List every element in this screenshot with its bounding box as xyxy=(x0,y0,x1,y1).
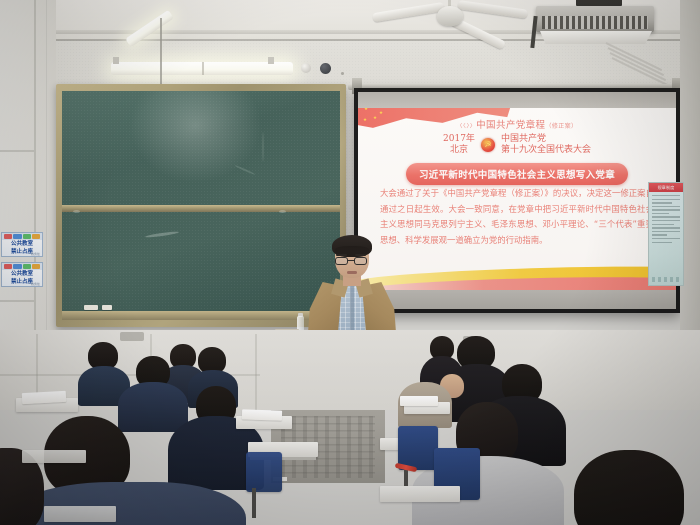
hook-wire xyxy=(160,18,162,88)
desk xyxy=(22,450,86,463)
hammer-sickle-icon: ☭ xyxy=(481,138,495,152)
shirt-placket xyxy=(350,282,354,334)
glasses-lens-right xyxy=(354,257,367,265)
notice-sign-no-seat-saving: 公共教室 禁止占座 教务处 xyxy=(1,232,43,257)
poster-body-lines xyxy=(649,192,683,243)
wall-seam xyxy=(46,0,47,352)
doc-title-suffix: （修正案） xyxy=(545,123,577,130)
notice-color-tabs xyxy=(2,263,42,270)
screen-top-strip xyxy=(358,92,676,108)
light-bracket xyxy=(113,57,119,64)
glasses-lens-left xyxy=(335,257,348,265)
slide-header-row: 2017年 北京 ☭ 中国共产党 第十九次全国代表大会 xyxy=(358,134,676,156)
desk-foreground xyxy=(380,486,460,502)
glasses-bridge xyxy=(348,260,354,261)
mouth xyxy=(347,271,357,274)
chalk-stick xyxy=(84,305,98,310)
desk-foreground xyxy=(44,506,116,522)
fan-blade xyxy=(372,2,445,22)
projection-screen-surface: ★ ★ ★ ★ ★ 〈〈〉〉中国共产党章程（修正案） 2017年 北京 ☭ xyxy=(358,92,676,309)
projector-body xyxy=(536,6,654,32)
blackboard-divider xyxy=(62,205,340,212)
wall-seam xyxy=(34,0,36,352)
slide-document-title: 〈〈〉〉中国共产党章程（修正案） xyxy=(358,117,676,131)
presentation-slide: ★ ★ ★ ★ ★ 〈〈〉〉中国共产党章程（修正案） 2017年 北京 ☭ xyxy=(358,108,676,298)
congress-line-2: 第十九次全国代表大会 xyxy=(501,145,591,156)
notice-footer: 教务处 xyxy=(31,282,40,286)
chair xyxy=(398,426,438,470)
fan-hub xyxy=(437,6,463,26)
notice-line-1: 公共教室 xyxy=(2,240,42,248)
blackboard-surface xyxy=(62,91,340,320)
doc-title-prefix: 〈〈〉〉 xyxy=(457,123,477,130)
poster-footer xyxy=(652,277,680,282)
chalk-stick xyxy=(102,305,112,310)
wall-poster-regulations: 规章制度 xyxy=(648,182,684,286)
chair xyxy=(246,452,282,492)
ceiling-fan-icon xyxy=(378,0,528,38)
light-bracket xyxy=(268,57,274,64)
poster-header-bar: 规章制度 xyxy=(649,183,683,192)
slide-city: 北京 xyxy=(443,145,475,156)
wall-sensor-icon xyxy=(320,63,331,74)
wall-screw xyxy=(341,72,344,75)
paper-sheet xyxy=(242,409,282,420)
audience-seating xyxy=(0,330,700,525)
slide-congress-name: 中国共产党 第十九次全国代表大会 xyxy=(501,134,591,156)
left-wall xyxy=(0,0,56,352)
wall-seam xyxy=(0,300,34,302)
slide-body-text: 大会通过了关于《中国共产党章程（修正案）》的决议，决定这一修正案自通过之日起生效… xyxy=(380,186,654,248)
chair-leg xyxy=(252,488,256,518)
wall-seam xyxy=(0,150,34,152)
slide-year: 2017年 xyxy=(443,134,475,145)
paper-sheet xyxy=(22,391,67,404)
notice-sign-no-seat-saving-2: 公共教室 禁止占座 教务处 xyxy=(1,262,43,287)
classroom-scene: 公共教室 禁止占座 教务处 公共教室 禁止占座 教务处 xyxy=(0,0,700,525)
paper-sheet xyxy=(400,396,438,406)
slide-banner-title: 习近平新时代中国特色社会主义思想写入党章 xyxy=(406,163,628,185)
blackboard xyxy=(56,84,346,327)
fan-blade xyxy=(457,0,528,19)
poster-header-text: 规章制度 xyxy=(649,183,683,192)
fluorescent-light-main xyxy=(111,62,293,75)
eyebrow-right xyxy=(355,254,366,256)
wall-speaker-icon xyxy=(301,63,311,73)
doc-title-main: 中国共产党章程 xyxy=(476,120,545,131)
notice-line-1: 公共教室 xyxy=(2,270,42,278)
projector-vents xyxy=(542,16,648,29)
projector-rails xyxy=(606,42,672,64)
eyebrow-left xyxy=(336,254,347,256)
projector-icon xyxy=(536,0,664,48)
congress-line-1: 中国共产党 xyxy=(501,134,591,145)
slide-year-city: 2017年 北京 xyxy=(443,134,475,156)
notice-footer: 教务处 xyxy=(31,252,40,256)
projection-screen: ★ ★ ★ ★ ★ 〈〈〉〉中国共产党章程（修正案） 2017年 北京 ☭ xyxy=(354,88,680,313)
screen-bottom-strip xyxy=(358,290,676,309)
notice-color-tabs xyxy=(2,233,42,240)
